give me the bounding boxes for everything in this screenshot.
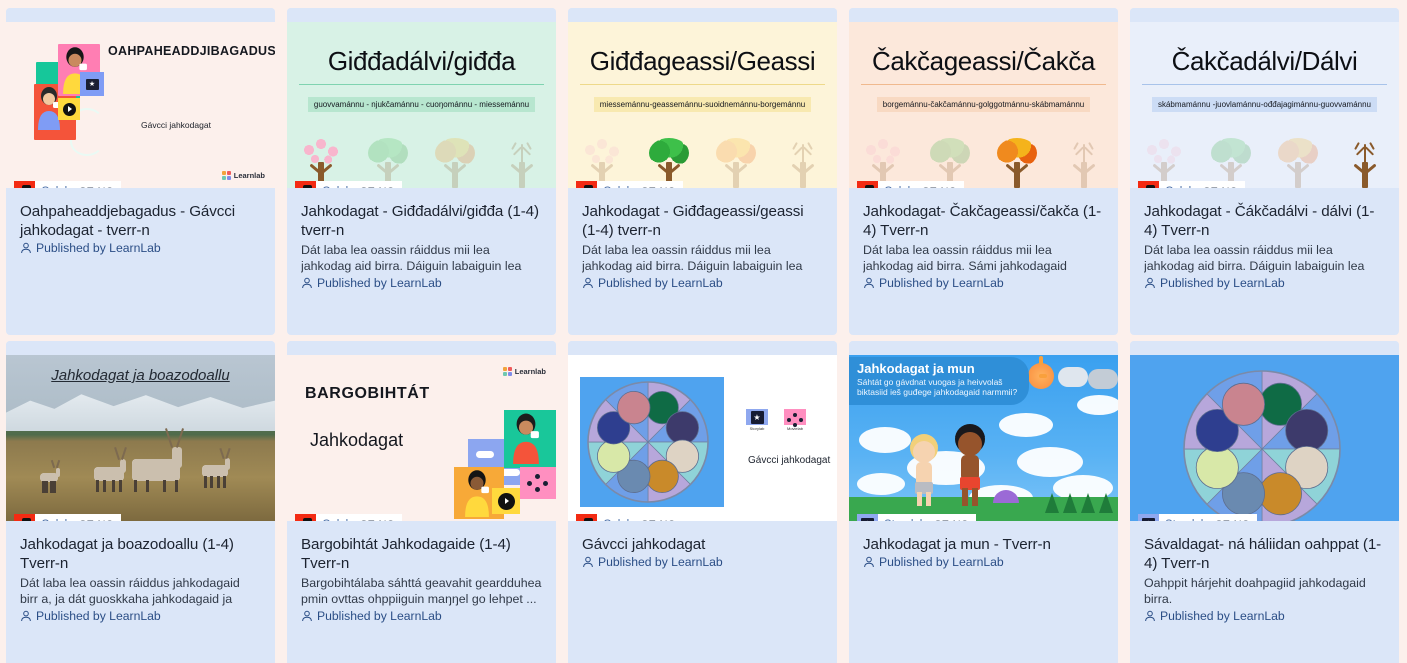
card-publisher: Published by LearnLab bbox=[582, 555, 823, 569]
card-thumbnail[interactable]: Čakčageassi/Čakča borgemánnu-čakčamánnu-… bbox=[849, 8, 1118, 188]
reindeer-photo: Jahkodagat ja boazodoallu bbox=[6, 355, 275, 521]
source-name: Colab bbox=[884, 186, 914, 189]
wheel-image bbox=[618, 391, 650, 423]
season-heading: Giđđageassi/Geassi bbox=[568, 46, 837, 77]
resource-card[interactable]: OAHPAHEADDJIBAGADUS Gávcci jahkodagat ★ … bbox=[6, 8, 275, 335]
colab-speech-bubbles-icon bbox=[14, 181, 35, 188]
wheel-panel bbox=[580, 377, 724, 507]
source-badge[interactable]: Colab ,SE-NO bbox=[1138, 181, 1245, 188]
tree-illustration bbox=[777, 128, 829, 188]
person-icon bbox=[20, 610, 32, 622]
source-language: ,SE-NO bbox=[76, 519, 114, 522]
tasks-slide: Learnlab BARGOBIHTÁT Jahkodagat bbox=[287, 355, 556, 521]
resource-card[interactable]: Jahkodagat ja mun Sáhtát go gávdnat vuog… bbox=[849, 341, 1118, 663]
card-publisher: Published by LearnLab bbox=[863, 276, 1104, 290]
resource-card[interactable]: ★ Storylab Movielab Gávcci jahkodagat Co… bbox=[568, 341, 837, 663]
wheel-image bbox=[1286, 409, 1328, 451]
season-heading: Čakčadálvi/Dálvi bbox=[1130, 46, 1399, 77]
source-badge[interactable]: ★ Storylab ,SE-NO bbox=[1138, 514, 1257, 521]
resource-card-grid: OAHPAHEADDJIBAGADUS Gávcci jahkodagat ★ … bbox=[0, 0, 1407, 663]
colab-speech-bubbles-icon bbox=[295, 514, 316, 521]
season-banner: Giđđageassi/Geassi miessemánnu-geassemán… bbox=[568, 22, 837, 188]
source-language: ,SE-NO bbox=[1200, 186, 1238, 189]
publisher-label: Published by LearnLab bbox=[598, 555, 723, 569]
card-body: Bargobihtát Jahkodagaide (1-4) Tverr-n B… bbox=[287, 521, 556, 663]
person-icon bbox=[582, 277, 594, 289]
play-icon bbox=[492, 488, 520, 514]
colab-speech-bubbles-icon bbox=[14, 514, 35, 521]
slide-subheading: Jahkodagat bbox=[310, 430, 403, 451]
season-heading: Giđđadálvi/giđđa bbox=[287, 46, 556, 77]
rain-cloud-icon bbox=[1088, 369, 1118, 389]
source-language: ,SE-NO bbox=[919, 186, 957, 189]
child-illustration bbox=[903, 433, 945, 507]
resource-card[interactable]: ★ Storylab ,SE-NO Sávaldagat- ná háliida… bbox=[1130, 341, 1399, 663]
source-language: ,SE-NO bbox=[1212, 519, 1250, 522]
card-publisher: Published by LearnLab bbox=[301, 609, 542, 623]
wheel-image bbox=[1196, 446, 1238, 488]
child-illustration bbox=[947, 423, 993, 507]
tree-illustration bbox=[710, 128, 762, 188]
card-thumbnail[interactable]: Jahkodagat ja mun Sáhtát go gávdnat vuog… bbox=[849, 341, 1118, 521]
learnlab-logo: Learnlab bbox=[503, 367, 546, 376]
source-badge[interactable]: Colab ,SE-NO bbox=[14, 181, 121, 188]
movielab-icon: Movielab bbox=[784, 409, 806, 431]
source-badge[interactable]: Colab ,SE-NO bbox=[857, 181, 964, 188]
source-badge[interactable]: Colab ,SE-NO bbox=[576, 514, 683, 521]
colab-speech-bubbles-icon bbox=[576, 514, 597, 521]
publisher-label: Published by LearnLab bbox=[36, 609, 161, 623]
card-publisher: Published by LearnLab bbox=[20, 241, 261, 255]
resource-card[interactable]: Čakčageassi/Čakča borgemánnu-čakčamánnu-… bbox=[849, 8, 1118, 335]
season-months: miessemánnu-geassemánnu-suoidnemánnu-bor… bbox=[568, 94, 837, 112]
source-name: Storylab bbox=[1165, 519, 1207, 522]
wheel-image bbox=[597, 440, 629, 472]
publisher-label: Published by LearnLab bbox=[317, 609, 442, 623]
wheel-image bbox=[1259, 473, 1301, 515]
publisher-label: Published by LearnLab bbox=[879, 555, 1004, 569]
card-description: Dát laba lea oassin ráiddus jahkodagaid … bbox=[20, 575, 261, 607]
tree-illustration bbox=[1272, 128, 1324, 188]
card-body: Jahkodagat- Čakčageassi/čakča (1-4) Tver… bbox=[849, 188, 1118, 335]
tree-illustration bbox=[991, 128, 1043, 188]
person-icon bbox=[20, 242, 32, 254]
card-body: Sávaldagat- ná háliidan oahppat (1-4) Tv… bbox=[1130, 521, 1399, 663]
publisher-label: Published by LearnLab bbox=[598, 276, 723, 290]
season-banner: Čakčadálvi/Dálvi skábmamánnu -juovlamánn… bbox=[1130, 22, 1399, 188]
speech-bubble: Jahkodagat ja mun Sáhtát go gávdnat vuog… bbox=[849, 357, 1029, 405]
publisher-label: Published by LearnLab bbox=[1160, 609, 1285, 623]
snow-cloud-icon bbox=[1058, 367, 1088, 387]
card-thumbnail[interactable]: Giđđadálvi/giđđa guovvamánnu - njukčamán… bbox=[287, 8, 556, 188]
wheel-image bbox=[666, 412, 698, 444]
card-description: Bargobihtálaba sáhttá geavahit geardduhe… bbox=[301, 575, 542, 607]
card-publisher: Published by LearnLab bbox=[20, 609, 261, 623]
tree-illustration bbox=[1339, 128, 1391, 188]
card-title[interactable]: Bargobihtát Jahkodagaide (1-4) Tverr-n bbox=[301, 535, 542, 573]
tree-row bbox=[1130, 120, 1399, 188]
slide-heading: BARGOBIHTÁT bbox=[305, 385, 430, 403]
card-publisher: Published by LearnLab bbox=[863, 555, 1104, 569]
wheel-image bbox=[1222, 383, 1264, 425]
slide-heading: OAHPAHEADDJIBAGADUS bbox=[108, 44, 275, 58]
source-name: Colab bbox=[41, 519, 71, 522]
source-name: Colab bbox=[322, 186, 352, 189]
card-body: Jahkodagat - Čákčadálvi - dálvi (1-4) Tv… bbox=[1130, 188, 1399, 335]
card-title[interactable]: Sávaldagat- ná háliidan oahppat (1-4) Tv… bbox=[1144, 535, 1385, 573]
source-name: Colab bbox=[603, 519, 633, 522]
source-name: Storylab bbox=[884, 519, 926, 522]
season-wheel-slide bbox=[1130, 355, 1399, 521]
tree-illustration bbox=[362, 128, 414, 188]
tree-illustration bbox=[1138, 128, 1190, 188]
source-name: Colab bbox=[1165, 186, 1195, 189]
card-title[interactable]: Oahpaheaddjebagadus - Gávcci jahkodagat … bbox=[20, 202, 261, 240]
card-description: Dát laba lea oassin ráiddus mii lea jahk… bbox=[301, 242, 542, 274]
season-banner: Giđđadálvi/giđđa guovvamánnu - njukčamán… bbox=[287, 22, 556, 188]
card-title[interactable]: Jahkodagat ja mun - Tverr-n bbox=[863, 535, 1104, 554]
person-icon bbox=[301, 277, 313, 289]
resource-card[interactable]: Jahkodagat ja boazodoallu bbox=[6, 341, 275, 663]
card-description: Dát laba lea oassin ráiddus mii lea jahk… bbox=[1144, 242, 1385, 274]
source-language: ,SE-NO bbox=[76, 186, 114, 189]
card-thumbnail[interactable]: Čakčadálvi/Dálvi skábmamánnu -juovlamánn… bbox=[1130, 8, 1399, 188]
tree-illustration bbox=[576, 128, 628, 188]
season-heading: Čakčageassi/Čakča bbox=[849, 46, 1118, 77]
storylab-book-star-icon: ★ bbox=[857, 514, 878, 521]
publisher-label: Published by LearnLab bbox=[36, 241, 161, 255]
wheel-caption: Gávcci jahkodagat bbox=[748, 455, 830, 466]
tree-illustration bbox=[295, 128, 347, 188]
source-language: ,SE-NO bbox=[357, 186, 395, 189]
card-title[interactable]: Jahkodagat - Giđđadálvi/giđđa (1-4) tver… bbox=[301, 202, 542, 240]
slide-heading: Jahkodagat ja mun bbox=[857, 361, 1021, 376]
slide-subheading: Sáhtát go gávdnat vuogas ja heivvolaš bi… bbox=[857, 377, 1021, 397]
person-icon bbox=[1144, 610, 1156, 622]
source-name: Colab bbox=[322, 519, 352, 522]
card-body: Oahpaheaddjebagadus - Gávcci jahkodagat … bbox=[6, 188, 275, 335]
resource-card[interactable]: Learnlab BARGOBIHTÁT Jahkodagat bbox=[287, 341, 556, 663]
source-badge[interactable]: ★ Storylab ,SE-NO bbox=[857, 514, 976, 521]
resource-card[interactable]: Giđđadálvi/giđđa guovvamánnu - njukčamán… bbox=[287, 8, 556, 335]
source-badge[interactable]: Colab ,SE-NO bbox=[295, 181, 402, 188]
tree-illustration bbox=[857, 128, 909, 188]
card-body: Jahkodagat - Giđđadálvi/giđđa (1-4) tver… bbox=[287, 188, 556, 335]
card-body: Gávcci jahkodagat Published by LearnLab bbox=[568, 521, 837, 663]
card-thumbnail[interactable]: Giđđageassi/Geassi miessemánnu-geassemán… bbox=[568, 8, 837, 188]
card-body: Jahkodagat ja mun - Tverr-n Published by… bbox=[849, 521, 1118, 663]
reindeer bbox=[132, 459, 180, 481]
colab-speech-bubbles-icon bbox=[857, 181, 878, 188]
wheel-image bbox=[646, 460, 678, 492]
tree-row bbox=[849, 120, 1118, 188]
card-publisher: Published by LearnLab bbox=[301, 276, 542, 290]
card-description: Dát laba lea oassin ráiddus mii lea jahk… bbox=[582, 242, 823, 274]
source-badge[interactable]: Colab ,SE-NO bbox=[295, 514, 402, 521]
source-badge[interactable]: Colab ,SE-NO bbox=[576, 181, 683, 188]
season-months: borgemánnu-čakčamánnu-golggotmánnu-skábm… bbox=[849, 94, 1118, 112]
card-title[interactable]: Gávcci jahkodagat bbox=[582, 535, 823, 554]
card-thumbnail[interactable]: OAHPAHEADDJIBAGADUS Gávcci jahkodagat ★ … bbox=[6, 8, 275, 188]
card-publisher: Published by LearnLab bbox=[1144, 276, 1385, 290]
tree-row bbox=[568, 120, 837, 188]
resource-card[interactable]: Čakčadálvi/Dálvi skábmamánnu -juovlamánn… bbox=[1130, 8, 1399, 335]
card-thumbnail[interactable]: ★ Storylab Movielab Gávcci jahkodagat Co… bbox=[568, 341, 837, 521]
colab-speech-bubbles-icon bbox=[576, 181, 597, 188]
storylab-icon: ★ Storylab bbox=[746, 409, 768, 431]
card-description: Oahppit hárjehit doahpagiid jahkodagaid … bbox=[1144, 575, 1385, 607]
source-language: ,SE-NO bbox=[931, 519, 969, 522]
publisher-label: Published by LearnLab bbox=[879, 276, 1004, 290]
tree-illustration bbox=[924, 128, 976, 188]
book-icon: ★ bbox=[80, 72, 104, 96]
season-months: skábmamánnu -juovlamánnu-ođđajagimánnu-g… bbox=[1130, 94, 1399, 112]
colab-speech-bubbles-icon bbox=[295, 181, 316, 188]
card-thumbnail[interactable]: Learnlab BARGOBIHTÁT Jahkodagat bbox=[287, 341, 556, 521]
person-icon bbox=[863, 277, 875, 289]
card-publisher: Published by LearnLab bbox=[1144, 609, 1385, 623]
tree-illustration bbox=[496, 128, 548, 188]
sun-icon bbox=[1028, 363, 1054, 389]
learnlab-logo: Learnlab bbox=[222, 171, 265, 180]
tree-row bbox=[287, 120, 556, 188]
card-title[interactable]: Jahkodagat - Čákčadálvi - dálvi (1-4) Tv… bbox=[1144, 202, 1385, 240]
card-description: Dát laba lea oassin ráiddus mii lea jahk… bbox=[863, 242, 1104, 274]
card-publisher: Published by LearnLab bbox=[582, 276, 823, 290]
person-icon bbox=[1144, 277, 1156, 289]
title-slide: OAHPAHEADDJIBAGADUS Gávcci jahkodagat ★ … bbox=[6, 22, 275, 188]
season-wheel-slide: ★ Storylab Movielab Gávcci jahkodagat bbox=[568, 355, 837, 521]
reindeer bbox=[202, 465, 228, 477]
card-body: Jahkodagat - Giđđageassi/geassi (1-4) tv… bbox=[568, 188, 837, 335]
tree-illustration bbox=[1058, 128, 1110, 188]
source-language: ,SE-NO bbox=[638, 519, 676, 522]
card-thumbnail[interactable]: ★ Storylab ,SE-NO bbox=[1130, 341, 1399, 521]
person-icon bbox=[301, 610, 313, 622]
reindeer bbox=[40, 473, 58, 482]
publisher-label: Published by LearnLab bbox=[317, 276, 442, 290]
card-body: Jahkodagat ja boazodoallu (1-4) Tverr-n … bbox=[6, 521, 275, 663]
person-icon bbox=[582, 556, 594, 568]
source-name: Colab bbox=[41, 186, 71, 189]
network-icon bbox=[520, 467, 556, 499]
storylab-book-star-icon: ★ bbox=[1138, 514, 1159, 521]
colab-speech-bubbles-icon bbox=[1138, 181, 1159, 188]
source-badge[interactable]: Colab ,SE-NO bbox=[14, 514, 121, 521]
kids-weather-slide: Jahkodagat ja mun Sáhtát go gávdnat vuog… bbox=[849, 355, 1118, 521]
card-title[interactable]: Jahkodagat ja boazodoallu (1-4) Tverr-n bbox=[20, 535, 261, 573]
card-title[interactable]: Jahkodagat- Čakčageassi/čakča (1-4) Tver… bbox=[863, 202, 1104, 240]
source-name: Colab bbox=[603, 186, 633, 189]
card-thumbnail[interactable]: Jahkodagat ja boazodoallu bbox=[6, 341, 275, 521]
source-language: ,SE-NO bbox=[638, 186, 676, 189]
tree-illustration bbox=[1205, 128, 1257, 188]
season-months: guovvamánnu - njukčamánnu - cuoŋománnu -… bbox=[287, 94, 556, 112]
resource-card[interactable]: Giđđageassi/Geassi miessemánnu-geassemán… bbox=[568, 8, 837, 335]
reindeer bbox=[94, 467, 124, 481]
tree-illustration bbox=[643, 128, 695, 188]
season-banner: Čakčageassi/Čakča borgemánnu-čakčamánnu-… bbox=[849, 22, 1118, 188]
tree-illustration bbox=[429, 128, 481, 188]
person-icon bbox=[863, 556, 875, 568]
slide-subheading: Gávcci jahkodagat bbox=[141, 120, 211, 130]
card-title[interactable]: Jahkodagat - Giđđageassi/geassi (1-4) tv… bbox=[582, 202, 823, 240]
photo-heading: Jahkodagat ja boazodoallu bbox=[6, 367, 275, 384]
play-icon bbox=[58, 98, 80, 120]
publisher-label: Published by LearnLab bbox=[1160, 276, 1285, 290]
source-language: ,SE-NO bbox=[357, 519, 395, 522]
